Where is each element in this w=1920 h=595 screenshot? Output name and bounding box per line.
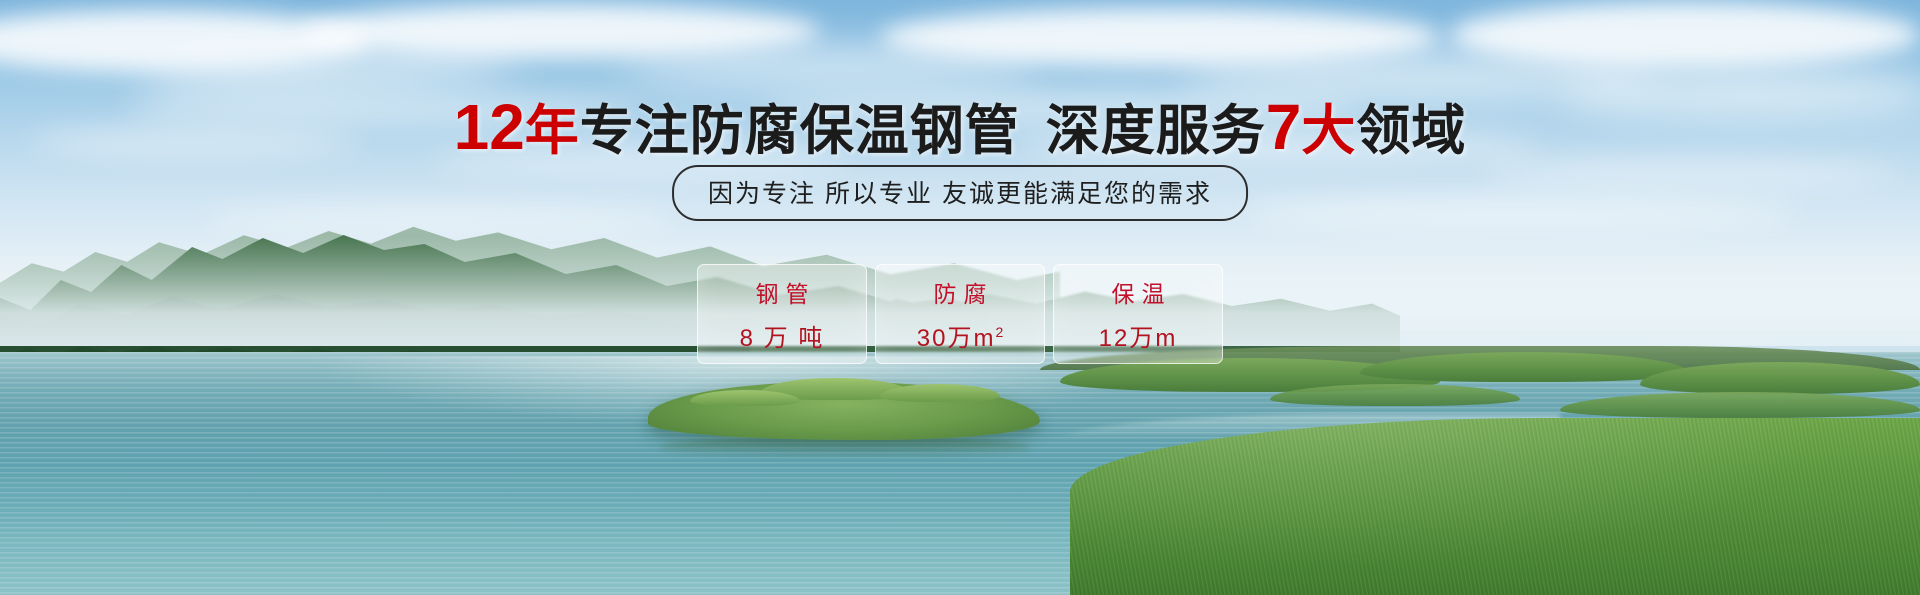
stat-card-anticorrosion[interactable]: 防腐 30万m2 xyxy=(875,264,1045,364)
hero-banner: 12年专注防腐保温钢管深度服务7大领域 因为专注 所以专业 友诚更能满足您的需求… xyxy=(0,0,1920,595)
stat-card-insulation[interactable]: 保温 12万m xyxy=(1053,264,1223,364)
stat-card-title: 防腐 xyxy=(927,275,994,309)
stat-card-value: 30万m2 xyxy=(917,318,1003,353)
headline: 12年专注防腐保温钢管深度服务7大领域 xyxy=(0,86,1920,165)
stat-card-value-superscript: 2 xyxy=(995,324,1003,340)
stat-card-value: 8 万 吨 xyxy=(740,318,825,353)
grass-texture xyxy=(1070,418,1920,595)
stat-card-title: 钢管 xyxy=(749,275,816,309)
stat-card-group: 钢管 8 万 吨 防腐 30万m2 保温 12万m xyxy=(697,264,1223,364)
stat-card-title: 保温 xyxy=(1105,275,1172,309)
headline-years-unit: 年 xyxy=(525,101,580,161)
headline-fields-unit: 大 xyxy=(1301,101,1356,161)
headline-years-number: 12 xyxy=(454,91,525,163)
stat-card-value-main: 12万m xyxy=(1099,325,1178,352)
stat-card-value-main: 30万m xyxy=(917,325,996,352)
stat-card-value: 12万m xyxy=(1099,318,1178,353)
stat-card-value-main: 8 万 吨 xyxy=(740,325,825,352)
headline-segment-three: 领域 xyxy=(1356,101,1466,161)
cloud-shape xyxy=(200,206,680,232)
subtitle-pill: 因为专注 所以专业 友诚更能满足您的需求 xyxy=(672,165,1248,221)
headline-fields-number: 7 xyxy=(1266,91,1302,163)
headline-segment-one: 专注防腐保温钢管 xyxy=(580,101,1020,161)
cloud-shape xyxy=(1240,196,1800,230)
cloud-shape xyxy=(1450,2,1920,68)
stat-card-steel-pipe[interactable]: 钢管 8 万 吨 xyxy=(697,264,867,364)
island-grass-tuft xyxy=(880,384,1000,402)
island-grass-tuft xyxy=(690,390,800,406)
headline-segment-two: 深度服务 xyxy=(1046,101,1266,161)
